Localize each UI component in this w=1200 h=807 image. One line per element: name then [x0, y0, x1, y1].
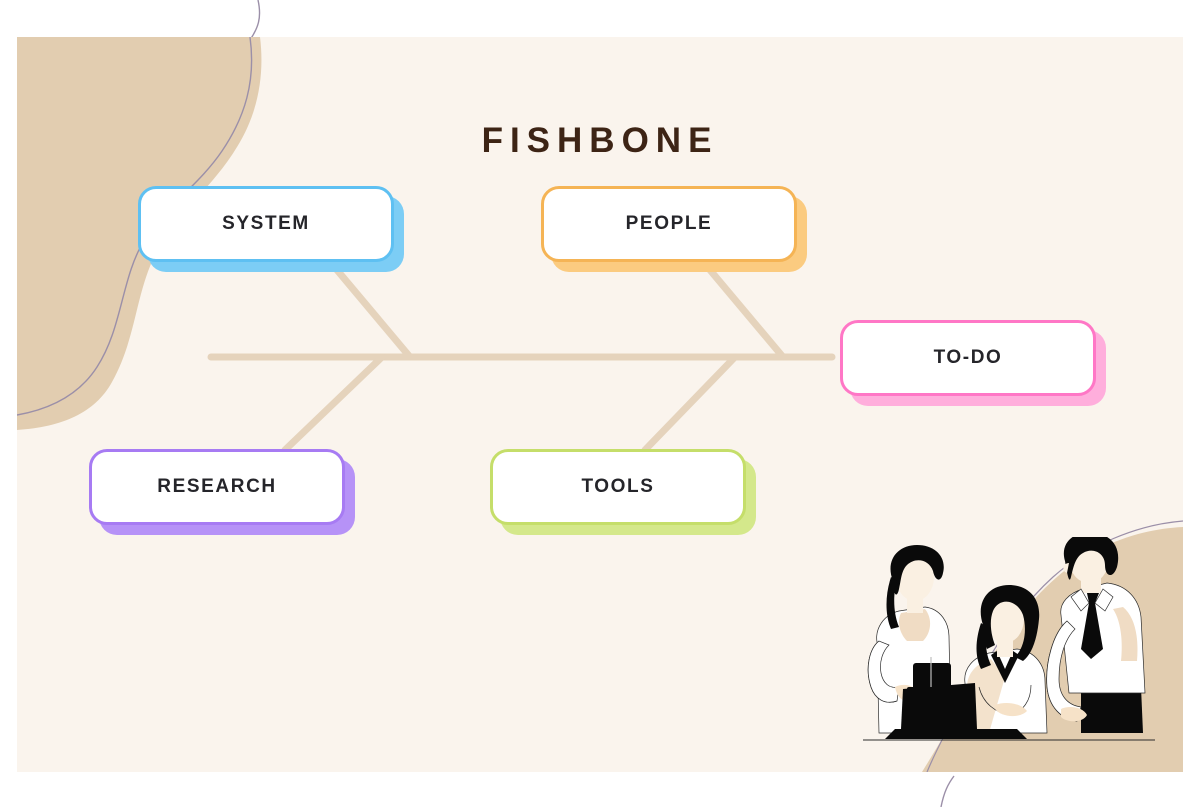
bone-people — [710, 270, 783, 357]
category-box-people[interactable]: PEOPLE — [541, 186, 797, 262]
category-box-todo[interactable]: TO-DO — [840, 320, 1096, 396]
category-box-tools[interactable]: TOOLS — [490, 449, 746, 525]
category-box-research[interactable]: RESEARCH — [89, 449, 345, 525]
bone-system — [337, 270, 410, 357]
bone-research — [285, 357, 382, 450]
category-label-system: SYSTEM — [222, 213, 310, 235]
poster-canvas: FISHBONE SYSTEM PEOPLE TO-DO — [17, 37, 1183, 772]
category-label-tools: TOOLS — [581, 476, 654, 498]
category-label-people: PEOPLE — [626, 213, 713, 235]
fishbone-poster: FISHBONE SYSTEM PEOPLE TO-DO — [0, 0, 1200, 807]
category-box-system[interactable]: SYSTEM — [138, 186, 394, 262]
category-label-todo: TO-DO — [934, 347, 1003, 369]
bone-tools — [645, 357, 735, 450]
category-label-research: RESEARCH — [157, 476, 276, 498]
